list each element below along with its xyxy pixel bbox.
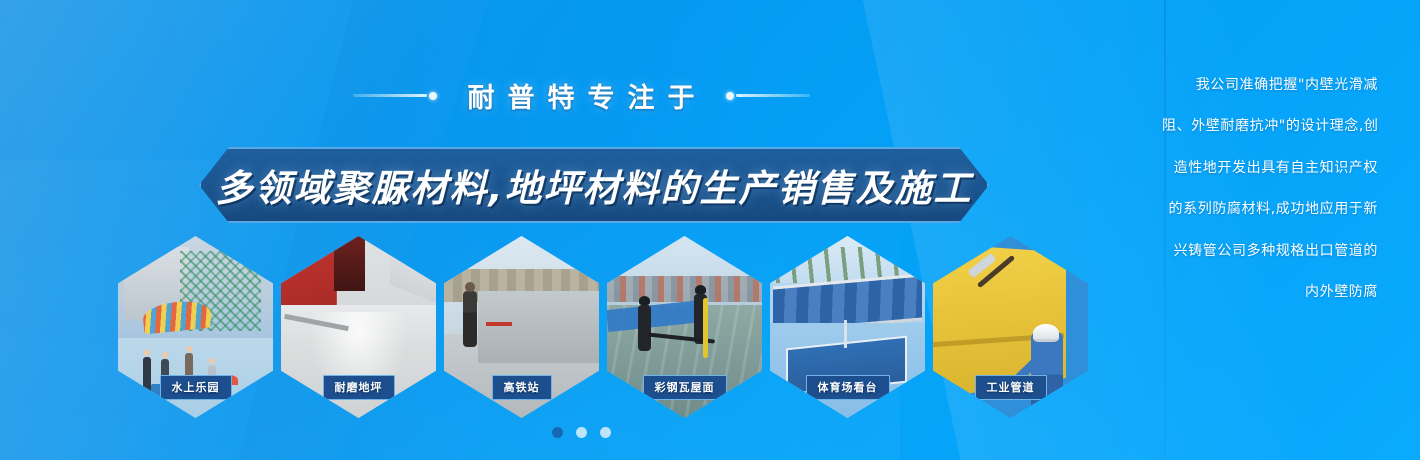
main-title-text: 多领域聚脲材料,地坪材料的生产销售及施工	[215, 158, 972, 212]
thumbnail-stadium-seating[interactable]: 体育场看台	[770, 236, 925, 418]
thumbnail-industrial-pipeline[interactable]: 工业管道	[933, 236, 1088, 418]
thumbnail-row: 水上乐园 耐磨地坪 高铁站 彩钢瓦屋面	[118, 236, 1088, 418]
decorative-bar	[736, 94, 810, 97]
eyebrow-text: 耐普特专注于	[455, 76, 708, 115]
description-line: 造性地开发出具有自主知识产权	[1162, 161, 1378, 176]
thumbnail-high-speed-rail-station[interactable]: 高铁站	[444, 236, 599, 418]
thumbnail-caption: 高铁站	[492, 375, 552, 400]
thumbnail-color-steel-roof[interactable]: 彩钢瓦屋面	[607, 236, 762, 418]
thumbnail-water-park[interactable]: 水上乐园	[118, 236, 273, 418]
decorative-line-right	[726, 92, 810, 100]
carousel-dots	[0, 427, 1162, 438]
description-line: 内外壁防腐	[1162, 285, 1378, 300]
decorative-bar	[353, 94, 427, 97]
main-title-plate: 多领域聚脲材料,地坪材料的生产销售及施工	[199, 147, 989, 223]
description-column: 我公司准确把握"内壁光滑减 阻、外壁耐磨抗冲"的设计理念,创 造性地开发出具有自…	[1162, 78, 1378, 300]
eyebrow-headline: 耐普特专注于	[0, 76, 1162, 115]
description-line: 阻、外壁耐磨抗冲"的设计理念,创	[1162, 119, 1378, 134]
carousel-dot-3[interactable]	[600, 427, 611, 438]
carousel-dot-2[interactable]	[576, 427, 587, 438]
thumbnail-caption: 工业管道	[975, 375, 1047, 400]
thumbnail-caption: 耐磨地坪	[323, 375, 395, 400]
thumbnail-caption: 彩钢瓦屋面	[643, 375, 727, 400]
thumbnail-caption: 水上乐园	[160, 375, 232, 400]
description-line: 的系列防腐材料,成功地应用于新	[1162, 202, 1378, 217]
carousel-dot-1[interactable]	[552, 427, 563, 438]
decorative-dot	[726, 92, 734, 100]
decorative-dot	[429, 92, 437, 100]
thumbnail-wear-resistant-floor[interactable]: 耐磨地坪	[281, 236, 436, 418]
hero-banner: 耐普特专注于 多领域聚脲材料,地坪材料的生产销售及施工 水上乐园	[0, 0, 1420, 460]
description-line: 兴铸管公司多种规格出口管道的	[1162, 244, 1378, 259]
thumbnail-caption: 体育场看台	[806, 375, 890, 400]
description-line: 我公司准确把握"内壁光滑减	[1162, 78, 1378, 93]
decorative-line-left	[353, 92, 437, 100]
